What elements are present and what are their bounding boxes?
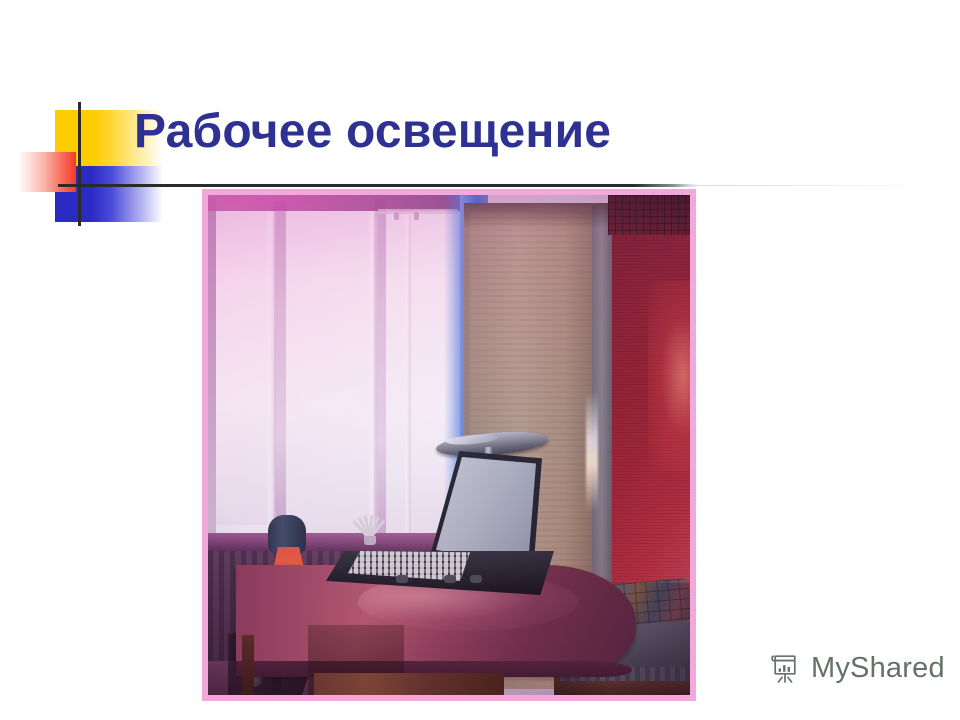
deco-vertical-rule [78,102,81,226]
slide-canvas: Рабочее освещение [0,0,960,720]
ceiling-grid [608,195,690,235]
curtain-fold-3 [404,215,411,545]
deco-horizontal-rule [58,184,698,187]
laptop-port [396,575,408,583]
laptop-port [470,575,482,583]
slide-photo [202,189,696,701]
watermark-label: MyShared [811,654,945,683]
photo-scene [208,195,690,695]
laptop-port [444,575,456,583]
curtain-fold-2 [368,207,378,543]
curtain-ring-1 [394,212,399,220]
flipchart-chart-icon [768,651,802,685]
deco-horizontal-rule-fade [690,185,940,186]
curtain-fold-1 [266,209,276,539]
plant-pot [364,536,376,545]
window-frame-left [208,199,216,539]
page-title: Рабочее освещение [134,101,834,163]
curtain-ring-2 [414,212,419,220]
window-pane-center [284,205,376,535]
red-wall-glow [648,281,690,471]
partition-light-reflection [586,391,598,511]
partition-top-shadow [464,203,616,229]
myshared-watermark: MyShared [768,651,945,685]
window-sill [208,533,460,551]
desk-leg [242,635,254,695]
photo-viewport [208,195,690,695]
plant [356,509,384,539]
desk-pedestal [314,673,504,695]
